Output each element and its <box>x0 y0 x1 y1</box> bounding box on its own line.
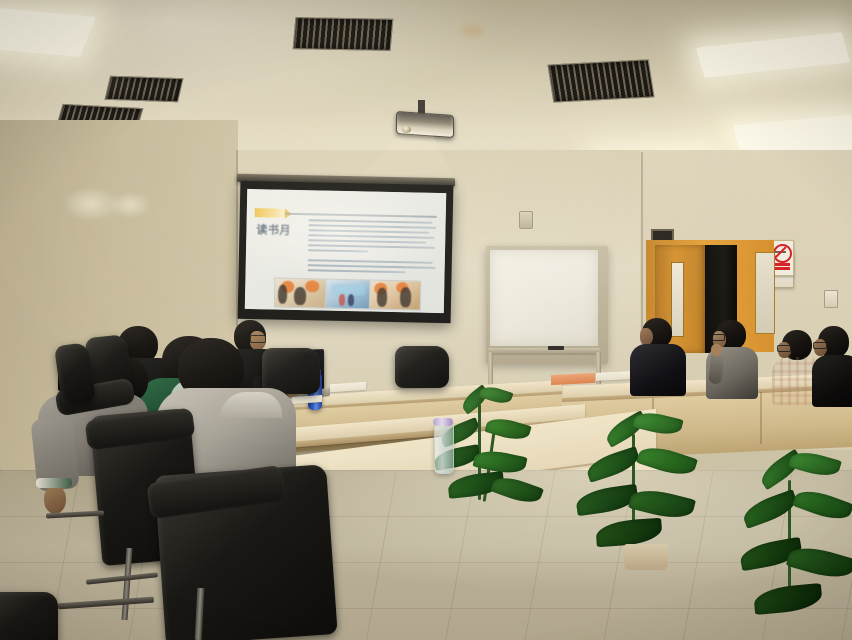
slide-photo-center <box>325 279 372 310</box>
light-switch-plate[interactable] <box>824 290 838 308</box>
no-smoking-circle-icon <box>773 244 792 263</box>
person-dark-coat <box>628 318 690 394</box>
person-dark-coat-torso <box>630 344 686 396</box>
plant-pot-right <box>624 544 668 570</box>
slide-photo-left <box>274 278 328 309</box>
person-black-jacket-right-torso <box>812 355 852 407</box>
person-black-jacket-right <box>812 326 852 406</box>
meeting-room-photo: 读书月 <box>0 0 852 640</box>
person-grey-tshirt <box>704 320 766 398</box>
glass-water-bottle[interactable] <box>434 424 454 474</box>
whiteboard-surface[interactable] <box>490 250 598 346</box>
glasses-icon <box>777 345 791 352</box>
mobile-whiteboard <box>486 246 608 364</box>
projection-screen-frame: 读书月 <box>238 181 454 323</box>
projection-screen-surface: 读书月 <box>245 189 446 313</box>
projector-lens <box>402 126 411 133</box>
slide-title: 读书月 <box>256 221 291 238</box>
slide-accent-banner <box>255 208 285 218</box>
glasses-icon <box>712 334 725 341</box>
whiteboard-eraser[interactable] <box>548 346 564 350</box>
potted-plant-far-right <box>740 450 852 640</box>
chair-bottom-left-corner[interactable] <box>0 592 58 640</box>
whiteboard-marker-tray <box>488 348 600 355</box>
presentation-slide: 读书月 <box>245 189 446 313</box>
glass-bottle-cap <box>433 418 453 426</box>
potted-plant-right <box>570 408 720 573</box>
chair-back-right-of-center[interactable] <box>395 346 449 388</box>
wall-stain-left-2 <box>108 192 152 218</box>
slide-photo-right <box>369 280 422 311</box>
wall-speaker <box>519 211 533 229</box>
ceiling-mounted-projector <box>396 111 454 138</box>
ceiling-vent-far-right <box>293 17 394 51</box>
person-grey-sweater-hand <box>44 486 66 514</box>
glasses-icon <box>813 342 827 349</box>
ceiling-vent-center <box>105 76 184 103</box>
ceiling-vent-right <box>547 59 654 102</box>
slide-divider-rule <box>285 213 437 218</box>
ceiling-stain <box>462 25 484 37</box>
